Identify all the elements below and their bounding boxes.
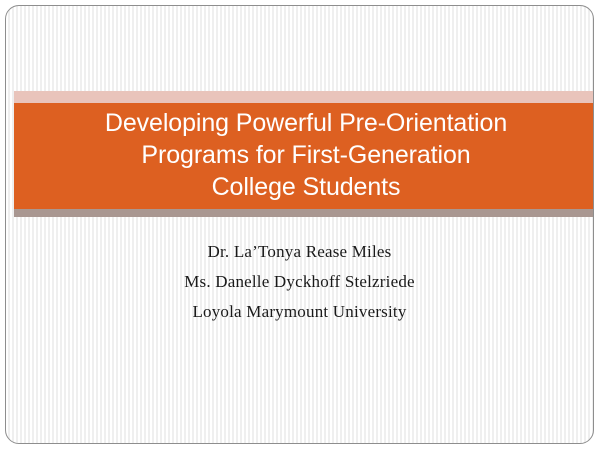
subtitle-line-institution: Loyola Marymount University bbox=[6, 297, 593, 327]
subtitle-line-presenter-1: Dr. La’Tonya Rease Miles bbox=[6, 237, 593, 267]
slide-canvas: Developing Powerful Pre-Orientation Prog… bbox=[5, 5, 594, 444]
presentation-slide: Developing Powerful Pre-Orientation Prog… bbox=[0, 0, 600, 450]
subtitle-line-presenter-2: Ms. Danelle Dyckhoff Stelzriede bbox=[6, 267, 593, 297]
banner-top-accent-bar bbox=[14, 91, 594, 103]
banner-body: Developing Powerful Pre-Orientation Prog… bbox=[14, 103, 594, 209]
slide-title: Developing Powerful Pre-Orientation Prog… bbox=[28, 107, 584, 203]
banner-bottom-accent-bar bbox=[14, 209, 594, 217]
subtitle-block: Dr. La’Tonya Rease Miles Ms. Danelle Dyc… bbox=[6, 237, 593, 327]
title-banner: Developing Powerful Pre-Orientation Prog… bbox=[14, 91, 594, 217]
